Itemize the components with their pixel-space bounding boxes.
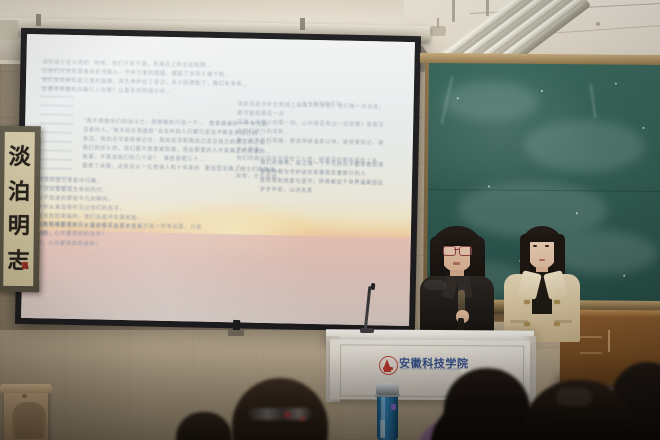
cabinet-seam: [580, 352, 602, 354]
stool-arch: [12, 402, 46, 439]
flask-label: [380, 420, 385, 438]
screen-bracket: [36, 14, 41, 26]
scroll-seal-stamp: [22, 262, 28, 269]
presenter-right: [502, 224, 582, 342]
stool-top: [0, 384, 52, 393]
chalk-smudge: [524, 120, 644, 173]
eyeglasses-bridge: [454, 249, 459, 250]
flask-cap: [376, 383, 399, 395]
screen-roller-cap: [0, 20, 18, 40]
hair-accessory-bead: [300, 416, 305, 421]
scroll-char-3: 明: [8, 215, 30, 237]
chalk-smudge: [443, 81, 539, 122]
eyeglasses-lens-right: [459, 246, 472, 256]
screen-bracket: [300, 18, 305, 30]
scroll-characters: 淡 泊 明 志: [3, 134, 35, 284]
mouth: [453, 262, 460, 265]
chalk-dot: [642, 127, 644, 129]
chalk-dot: [541, 90, 543, 92]
cabinet-seam: [580, 336, 602, 338]
cabinet-handle: [608, 330, 610, 352]
hair-highlight: [556, 388, 592, 406]
ceiling-blemish: [596, 22, 600, 26]
presenter-left: [414, 224, 500, 344]
coat-toggle-button: [554, 300, 560, 304]
chalk-dot: [623, 275, 625, 277]
scroll-char-1: 淡: [8, 146, 30, 168]
emblem-pagoda-shape: [384, 359, 390, 367]
stool-knob: [22, 394, 27, 398]
coat-toggle-button: [524, 300, 530, 304]
coat-highlight: [424, 280, 446, 290]
scroll-char-2: 泊: [8, 181, 30, 203]
mouth: [539, 259, 545, 261]
eye-right: [545, 245, 549, 247]
light-hanger: [452, 0, 455, 22]
emblem-base-lower: [384, 369, 391, 371]
chalk-dot: [457, 97, 459, 99]
microphone-base: [360, 328, 374, 333]
hair-accessory-bead: [284, 412, 291, 418]
chalk-dot: [615, 83, 617, 85]
coat-pocket-right: [554, 320, 572, 323]
chalk-dot: [576, 212, 578, 214]
chalk-dot: [488, 185, 490, 187]
projection-screen: 消防战士在火场的 呐喊，他们不言不语，而海兵上的长征和跳… 让他们义无反顾舍身赴…: [21, 34, 415, 326]
flask-badge: [391, 404, 396, 410]
eyeglasses-lens-left: [443, 246, 456, 256]
eye-left: [533, 245, 537, 247]
light-hanger: [486, 0, 489, 16]
ceiling-mount-rod: [437, 18, 439, 28]
classroom-photo: 消防战士在火场的 呐喊，他们不言不语，而海兵上的长征和跳… 让他们义无反顾舍身赴…: [0, 0, 660, 440]
coat-pocket-left: [510, 320, 528, 323]
university-emblem-icon: [379, 356, 396, 373]
